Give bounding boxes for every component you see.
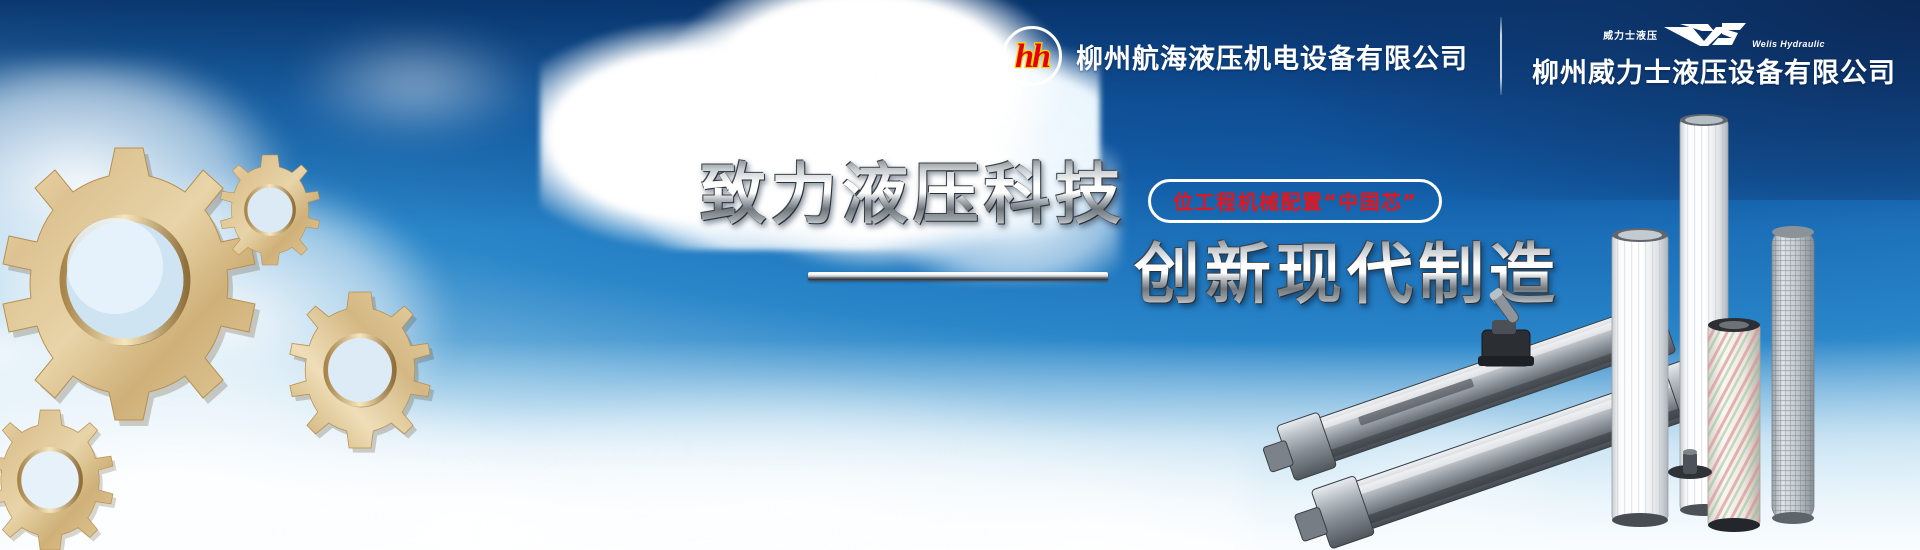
ws-logo-cn-text: 威力士液压 — [1603, 27, 1658, 42]
gear-large — [3, 148, 260, 426]
gear-small — [0, 410, 117, 550]
filter-element-striped — [1708, 318, 1760, 532]
company-primary-logo[interactable]: hh 柳州航海液压机电设备有限公司 — [1002, 26, 1500, 86]
gear-top — [221, 155, 320, 265]
metal-rule-bar — [808, 272, 1108, 281]
headline-line-1: 致力液压科技 — [700, 160, 1126, 230]
product-photo-group — [1260, 100, 1920, 550]
gear-cluster — [0, 80, 560, 550]
ws-glyph-icon — [1662, 21, 1748, 47]
company-secondary-name: 柳州威力士液压设备有限公司 — [1532, 51, 1896, 90]
header-logo-bar: hh 柳州航海液压机电设备有限公司 威力士液压 Welis Hydraulic … — [1002, 16, 1896, 96]
hh-monogram: hh — [1015, 40, 1049, 74]
valve-fitting — [1478, 287, 1534, 366]
company-secondary-logo[interactable]: 威力士液压 Welis Hydraulic 柳州威力士液压设备有限公司 — [1502, 23, 1896, 90]
ws-wing-logo-icon: 威力士液压 Welis Hydraulic — [1603, 23, 1825, 47]
hero-banner: hh 柳州航海液压机电设备有限公司 威力士液压 Welis Hydraulic … — [0, 0, 1920, 550]
gear-medium — [290, 292, 434, 453]
filter-cartridge-mid — [1612, 228, 1668, 527]
ws-logo-en-text: Welis Hydraulic — [1752, 39, 1825, 49]
company-primary-name: 柳州航海液压机电设备有限公司 — [1076, 37, 1468, 76]
hh-circle-logo-icon: hh — [1002, 26, 1062, 86]
filter-cartridge-mesh — [1772, 226, 1814, 524]
